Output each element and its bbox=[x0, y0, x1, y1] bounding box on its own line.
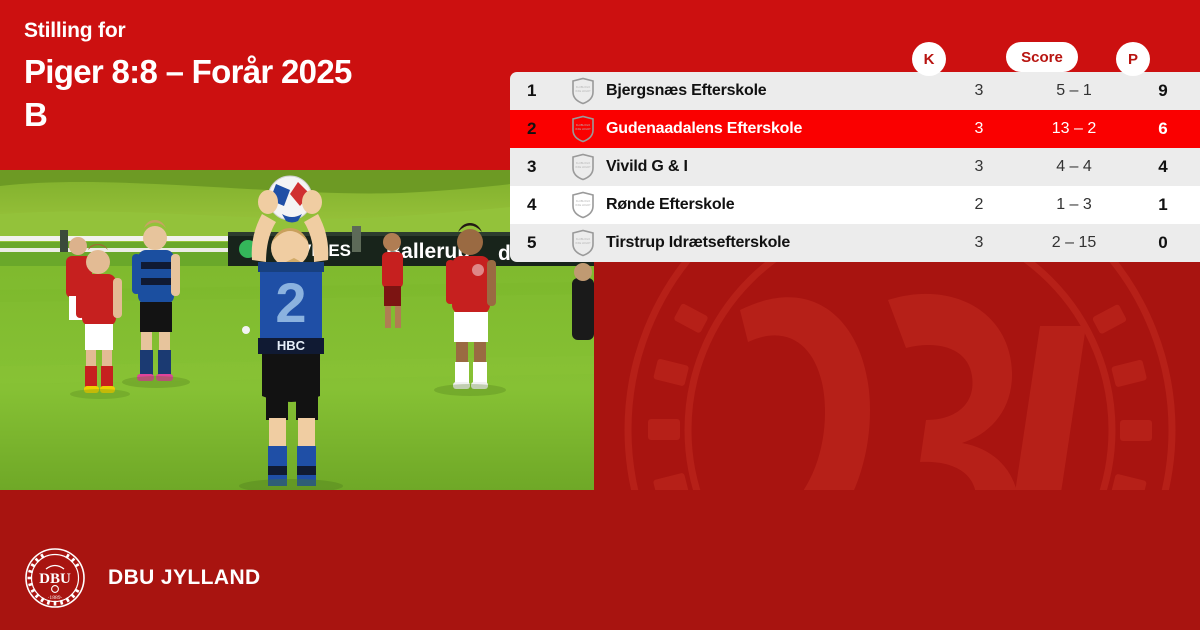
row-score: 13 – 2 bbox=[1022, 120, 1126, 138]
row-team-name: Vivild G & I bbox=[606, 158, 936, 176]
dbu-logo-icon: DBU ·1889· bbox=[24, 547, 86, 609]
row-team-name: Rønde Efterskole bbox=[606, 196, 936, 214]
row-team-name: Gudenaadalens Efterskole bbox=[606, 120, 936, 138]
row-score: 4 – 4 bbox=[1022, 158, 1126, 176]
svg-text:KLUBLOGO: KLUBLOGO bbox=[576, 85, 590, 89]
row-position: 5 bbox=[510, 233, 560, 253]
row-position: 1 bbox=[510, 81, 560, 101]
svg-text:2: 2 bbox=[275, 271, 306, 334]
row-score: 2 – 15 bbox=[1022, 234, 1126, 252]
svg-text:KLUBLOGO: KLUBLOGO bbox=[576, 161, 590, 165]
header-text-group: Stilling for Piger 8:8 – Forår 2025 B bbox=[24, 18, 494, 136]
row-team-name: Bjergsnæs Efterskole bbox=[606, 82, 936, 100]
standings-table: 1KLUBLOGOIKKE HOLDTBjergsnæs Efterskole3… bbox=[510, 72, 1200, 262]
row-score: 1 – 3 bbox=[1022, 196, 1126, 214]
table-row[interactable]: 1KLUBLOGOIKKE HOLDTBjergsnæs Efterskole3… bbox=[510, 72, 1200, 110]
table-row[interactable]: 2KLUBLOGOIKKE HOLDTGudenaadalens Eftersk… bbox=[510, 110, 1200, 148]
row-points: 4 bbox=[1126, 157, 1200, 177]
row-position: 4 bbox=[510, 195, 560, 215]
svg-text:IKKE HOLDT: IKKE HOLDT bbox=[575, 165, 591, 169]
svg-text:IKKE HOLDT: IKKE HOLDT bbox=[575, 89, 591, 93]
row-points: 9 bbox=[1126, 81, 1200, 101]
svg-text:IKKE HOLDT: IKKE HOLDT bbox=[575, 203, 591, 207]
row-played: 3 bbox=[936, 82, 1022, 100]
row-position: 2 bbox=[510, 119, 560, 139]
column-pill-score[interactable]: Score bbox=[1006, 42, 1078, 72]
footer: DBU ·1889· DBU JYLLAND bbox=[0, 525, 1200, 630]
svg-text:IKKE HOLDT: IKKE HOLDT bbox=[575, 241, 591, 245]
club-crest-icon: KLUBLOGOIKKE HOLDT bbox=[560, 77, 606, 105]
club-crest-icon: KLUBLOGOIKKE HOLDT bbox=[560, 153, 606, 181]
row-points: 0 bbox=[1126, 233, 1200, 253]
row-played: 3 bbox=[936, 234, 1022, 252]
row-played: 2 bbox=[936, 196, 1022, 214]
club-crest-icon: KLUBLOGOIKKE HOLDT bbox=[560, 229, 606, 257]
match-photo: VICES Ballerup dc bbox=[0, 170, 594, 490]
column-pill-points[interactable]: P bbox=[1116, 42, 1150, 76]
svg-text:DBU: DBU bbox=[39, 571, 71, 587]
header-kicker: Stilling for bbox=[24, 18, 494, 44]
row-points: 6 bbox=[1126, 119, 1200, 139]
row-team-name: Tirstrup Idrætsefterskole bbox=[606, 234, 936, 252]
footer-label: DBU JYLLAND bbox=[108, 566, 261, 590]
table-row[interactable]: 4KLUBLOGOIKKE HOLDTRønde Efterskole21 – … bbox=[510, 186, 1200, 224]
standings-graphic: VICES Ballerup dc bbox=[0, 0, 1200, 630]
row-position: 3 bbox=[510, 157, 560, 177]
row-played: 3 bbox=[936, 158, 1022, 176]
svg-text:·1889·: ·1889· bbox=[48, 595, 63, 601]
row-played: 3 bbox=[936, 120, 1022, 138]
table-row[interactable]: 5KLUBLOGOIKKE HOLDTTirstrup Idrætsefters… bbox=[510, 224, 1200, 262]
page-title-line2: B bbox=[24, 93, 494, 136]
column-pill-played[interactable]: K bbox=[912, 42, 946, 76]
svg-text:KLUBLOGO: KLUBLOGO bbox=[576, 199, 590, 203]
svg-text:HBC: HBC bbox=[277, 338, 306, 353]
svg-text:KLUBLOGO: KLUBLOGO bbox=[576, 123, 590, 127]
club-crest-icon: KLUBLOGOIKKE HOLDT bbox=[560, 191, 606, 219]
svg-text:KLUBLOGO: KLUBLOGO bbox=[576, 237, 590, 241]
row-score: 5 – 1 bbox=[1022, 82, 1126, 100]
table-row[interactable]: 3KLUBLOGOIKKE HOLDTVivild G & I34 – 44 bbox=[510, 148, 1200, 186]
svg-text:IKKE HOLDT: IKKE HOLDT bbox=[575, 127, 591, 131]
row-points: 1 bbox=[1126, 195, 1200, 215]
club-crest-icon: KLUBLOGOIKKE HOLDT bbox=[560, 115, 606, 143]
page-title-line1: Piger 8:8 – Forår 2025 bbox=[24, 50, 494, 93]
